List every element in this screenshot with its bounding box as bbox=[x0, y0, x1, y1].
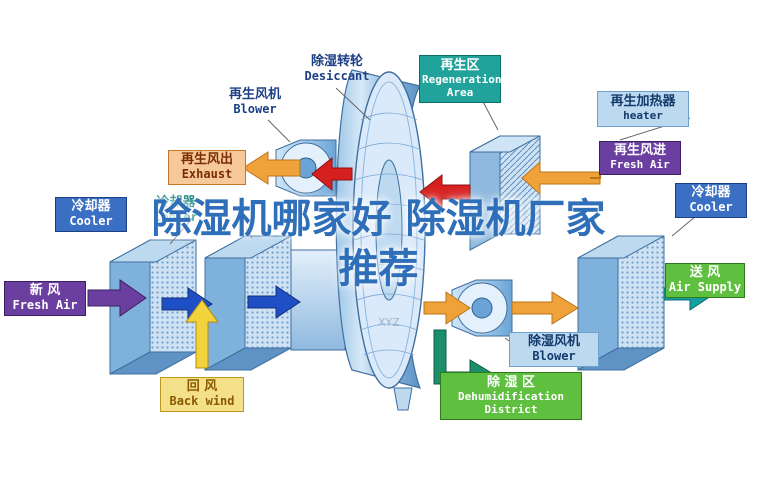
label-cooler-right-en: Cooler bbox=[678, 201, 744, 215]
label-dehumidification-district-en: Dehumidification District bbox=[443, 391, 579, 416]
label-cooler-right: 冷却器 Cooler bbox=[675, 183, 747, 218]
label-cooler-center-cn: 冷却器 bbox=[143, 196, 209, 211]
label-dehumidification-blower-cn: 除湿风机 bbox=[512, 335, 596, 350]
label-dehumidification-district-cn: 除 湿 区 bbox=[443, 376, 579, 391]
label-regeneration-area-cn: 再生区 bbox=[422, 59, 498, 74]
label-regeneration-exhaust-cn: 再生风出 bbox=[171, 153, 243, 168]
label-cooler-center: 冷却器 Cooler bbox=[143, 196, 209, 225]
label-cooler-left: 冷却器 Cooler bbox=[55, 197, 127, 232]
label-cooler-right-cn: 冷却器 bbox=[678, 186, 744, 201]
label-desiccant-wheel: 除湿转轮 Desiccant bbox=[289, 55, 385, 84]
label-regeneration-fresh-air: 再生风进 Fresh Air bbox=[599, 141, 681, 175]
label-air-supply-cn: 送 风 bbox=[668, 266, 742, 281]
label-air-supply-en: Air Supply bbox=[668, 281, 742, 295]
label-fresh-air-in: 新 风 Fresh Air bbox=[4, 281, 86, 316]
label-regeneration-fresh-air-cn: 再生风进 bbox=[602, 144, 678, 159]
label-dehumidification-district: 除 湿 区 Dehumidification District bbox=[440, 372, 582, 420]
label-desiccant-wheel-cn: 除湿转轮 bbox=[289, 55, 385, 70]
label-regeneration-exhaust: 再生风出 Exhaust bbox=[168, 150, 246, 185]
faint-watermark-text: XYZ bbox=[378, 316, 400, 329]
label-back-wind: 回 风 Back wind bbox=[160, 377, 244, 412]
heater-unit bbox=[470, 136, 540, 250]
label-regeneration-area: 再生区 Regeneration Area bbox=[419, 55, 501, 103]
label-cooler-center-en: Cooler bbox=[143, 211, 209, 225]
label-regeneration-exhaust-en: Exhaust bbox=[171, 168, 243, 182]
label-desiccant-wheel-en: Desiccant bbox=[289, 70, 385, 84]
label-regeneration-area-en: Regeneration Area bbox=[422, 74, 498, 99]
label-regeneration-heater-en: heater bbox=[600, 110, 686, 123]
label-dehumidification-blower-en: Blower bbox=[512, 350, 596, 364]
label-regeneration-heater-cn: 再生加热器 bbox=[600, 95, 686, 110]
label-cooler-left-cn: 冷却器 bbox=[58, 200, 124, 215]
diagram-canvas: 除湿转轮 Desiccant 再生区 Regeneration Area 再生风… bbox=[0, 0, 757, 488]
label-regeneration-fresh-air-en: Fresh Air bbox=[602, 159, 678, 172]
label-regeneration-blower-en: Blower bbox=[210, 103, 300, 117]
label-back-wind-en: Back wind bbox=[163, 395, 241, 409]
label-regeneration-heater: 再生加热器 heater bbox=[597, 91, 689, 127]
label-regeneration-blower: 再生风机 Blower bbox=[210, 88, 300, 117]
label-dehumidification-blower: 除湿风机 Blower bbox=[509, 332, 599, 367]
label-air-supply: 送 风 Air Supply bbox=[665, 263, 745, 298]
label-back-wind-cn: 回 风 bbox=[163, 380, 241, 395]
label-cooler-left-en: Cooler bbox=[58, 215, 124, 229]
label-fresh-air-in-en: Fresh Air bbox=[7, 299, 83, 313]
label-regeneration-blower-cn: 再生风机 bbox=[210, 88, 300, 103]
label-fresh-air-in-cn: 新 风 bbox=[7, 284, 83, 299]
desiccant-wheel-graphic bbox=[336, 70, 425, 410]
